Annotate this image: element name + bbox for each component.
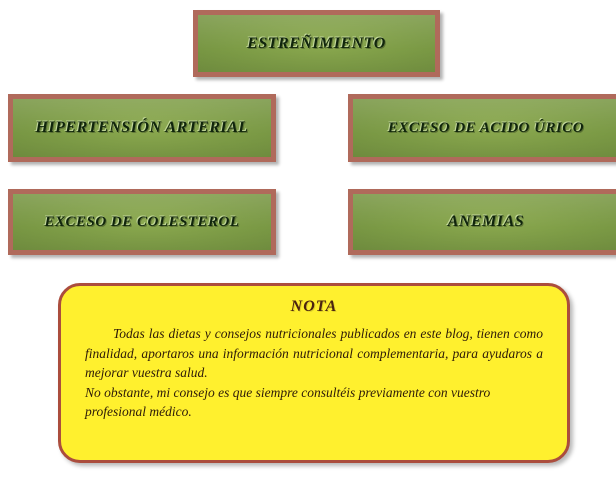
condition-box-label: EXCESO DE COLESTEROL xyxy=(38,212,245,232)
note-panel: NOTA Todas las dietas y consejos nutrici… xyxy=(58,283,570,463)
note-paragraph-disclaimer: Todas las dietas y consejos nutricionale… xyxy=(85,324,543,383)
condition-box-label: ESTREÑIMIENTO xyxy=(241,33,392,55)
condition-box-hipertension-arterial[interactable]: HIPERTENSIÓN ARTERIAL xyxy=(8,94,276,162)
condition-box-exceso-de-acido-urico[interactable]: EXCESO DE ACIDO ÚRICO xyxy=(348,94,616,162)
note-paragraph-medical-advice: No obstante, mi consejo es que siempre c… xyxy=(85,383,543,422)
note-title: NOTA xyxy=(85,298,543,316)
condition-box-label: HIPERTENSIÓN ARTERIAL xyxy=(29,117,254,139)
diagram-canvas: ESTREÑIMIENTO HIPERTENSIÓN ARTERIAL EXCE… xyxy=(0,0,616,477)
condition-box-exceso-de-colesterol[interactable]: EXCESO DE COLESTEROL xyxy=(8,189,276,255)
condition-box-label: EXCESO DE ACIDO ÚRICO xyxy=(382,118,590,138)
condition-box-label: ANEMIAS xyxy=(442,211,530,233)
condition-box-estrenimiento[interactable]: ESTREÑIMIENTO xyxy=(193,10,440,77)
condition-box-anemias[interactable]: ANEMIAS xyxy=(348,189,616,255)
